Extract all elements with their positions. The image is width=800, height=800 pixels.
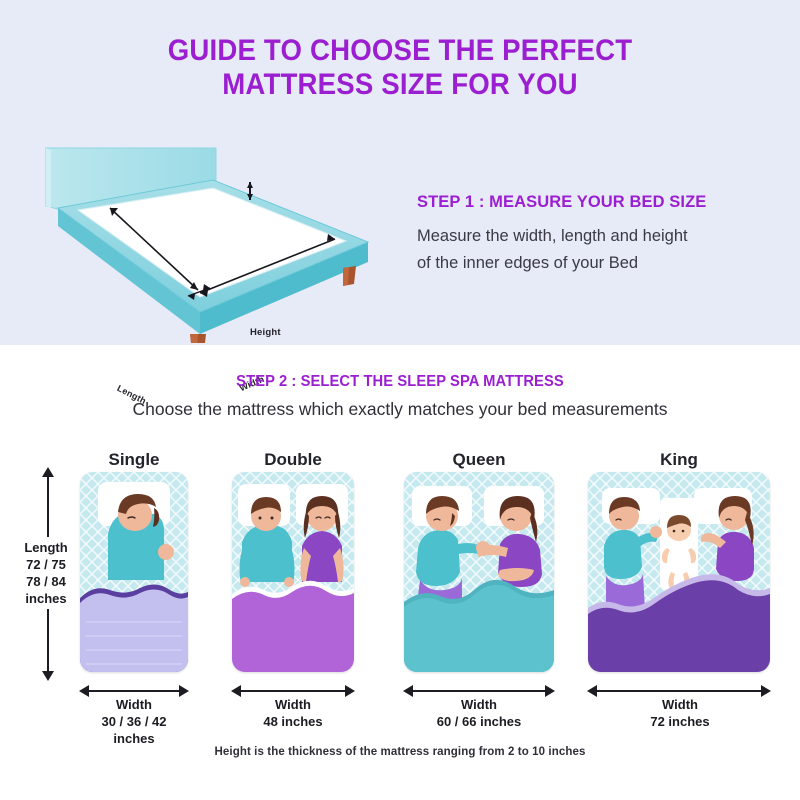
width-arrow-double [240, 690, 346, 692]
width-unit-single: inches [70, 730, 198, 747]
width-title-king: Width [590, 696, 770, 713]
width-arrow-king [596, 690, 762, 692]
width-title-queen: Width [400, 696, 558, 713]
width-title-double: Width [225, 696, 361, 713]
length-gauge-values-1: 72 / 75 [0, 556, 92, 573]
width-label-double: Width 48 inches [225, 696, 361, 730]
mattress-label-double: Double [232, 450, 354, 470]
width-label-queen: Width 60 / 66 inches [400, 696, 558, 730]
length-gauge-label: Length 72 / 75 78 / 84 inches [0, 537, 92, 609]
step-1-line-2: of the inner edges of your Bed [417, 250, 777, 277]
step-2-subheading: Choose the mattress which exactly matche… [0, 399, 800, 420]
page-title: GUIDE TO CHOOSE THE PERFECT MATTRESS SIZ… [32, 34, 768, 102]
width-label-single: Width 30 / 36 / 42 inches [70, 696, 198, 747]
mattress-label-king: King [588, 450, 770, 470]
mattress-card-king[interactable] [588, 472, 770, 672]
mattress-label-single: Single [80, 450, 188, 470]
width-arrow-single [88, 690, 180, 692]
width-arrow-queen [412, 690, 546, 692]
infographic-canvas: GUIDE TO CHOOSE THE PERFECT MATTRESS SIZ… [0, 0, 800, 800]
length-gauge-title: Length [0, 539, 92, 556]
length-gauge-values-2: 78 / 84 [0, 573, 92, 590]
step-1-line-1: Measure the width, length and height [417, 223, 777, 250]
step-2-heading: STEP 2 : SELECT THE SLEEP SPA MATTRESS [20, 373, 780, 391]
width-value-double: 48 inches [225, 713, 361, 730]
bed-diagram-svg [38, 138, 378, 343]
step-1-heading: STEP 1 : MEASURE YOUR BED SIZE [417, 193, 777, 212]
width-title-single: Width [70, 696, 198, 713]
width-value-single: 30 / 36 / 42 [70, 713, 198, 730]
page-title-line-2: MATTRESS SIZE FOR YOU [32, 68, 768, 102]
length-gauge-unit: inches [0, 590, 92, 607]
mattress-card-double[interactable] [232, 472, 354, 672]
mattress-card-single[interactable] [80, 472, 188, 672]
footnote-text: Height is the thickness of the mattress … [0, 746, 800, 758]
width-value-king: 72 inches [590, 713, 770, 730]
width-label-king: Width 72 inches [590, 696, 770, 730]
bed-height-label: Height [250, 327, 281, 338]
mattress-card-queen[interactable] [404, 472, 554, 672]
bed-illustration: Height Length Width [38, 138, 378, 343]
width-value-queen: 60 / 66 inches [400, 713, 558, 730]
step-1-block: STEP 1 : MEASURE YOUR BED SIZE Measure t… [417, 193, 777, 277]
page-title-line-1: GUIDE TO CHOOSE THE PERFECT [32, 34, 768, 68]
mattress-label-queen: Queen [404, 450, 554, 470]
